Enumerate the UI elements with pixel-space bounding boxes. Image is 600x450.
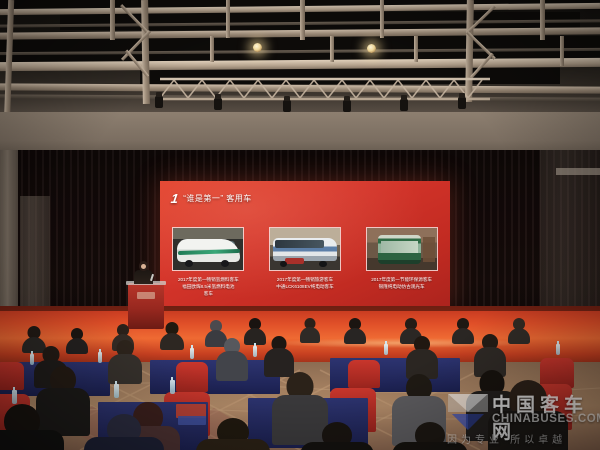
- water-bottle: [384, 344, 388, 355]
- stage-spotlight: [155, 96, 163, 108]
- slide-number-marker: 1: [170, 192, 179, 205]
- slide-title: “谁是第一” 客用车: [183, 193, 252, 204]
- slide-card: 2017年度第一畅销旅游客车 中通LCK6108EV纯电动客车: [269, 227, 341, 297]
- bus-photo-1: [172, 227, 244, 271]
- audience-person: [264, 336, 294, 376]
- ceiling-lamp: [253, 43, 262, 52]
- slide-card: 2017年度第一畅销氢燃料客车 福田欧辉8.5米氢燃料电池 客车: [172, 227, 244, 297]
- stage-spotlight: [400, 99, 408, 111]
- water-bottle: [12, 390, 17, 404]
- water-bottle: [253, 346, 257, 357]
- slide-header: 1 “谁是第一” 客用车: [171, 192, 252, 205]
- chinabuses-diamond-logo: [444, 388, 492, 434]
- audience-person: [300, 422, 374, 450]
- stage-spotlight: [214, 98, 222, 110]
- stage-spotlight: [343, 100, 351, 112]
- audience-person: [344, 318, 366, 343]
- watermark-domain: CHINABUSES.COM: [492, 413, 600, 425]
- ceiling-lamp: [367, 44, 376, 53]
- card-caption: 2017年度第一畅销旅游客车 中通LCK6108EV纯电动客车: [276, 276, 333, 290]
- wall-vent: [556, 168, 600, 175]
- watermark: 中国客车网 CHINABUSES.COM 因为专业 所以卓越: [444, 384, 596, 448]
- stage-front-edge: [0, 306, 600, 311]
- projection-screen: 1 “谁是第一” 客用车 2017年度第一畅销氢燃料客车 福田欧辉8.5米氢燃料…: [160, 181, 450, 311]
- audience-person: [84, 414, 164, 450]
- wall-pillar: [20, 196, 50, 316]
- speaker-face: [141, 264, 146, 269]
- card-caption: 2017年度第一畅销氢燃料客车 福田欧辉8.5米氢燃料电池 客车: [178, 276, 239, 297]
- audience-chair: [348, 360, 380, 388]
- water-bottle: [98, 352, 102, 363]
- watermark-tagline: 因为专业 所以卓越: [447, 431, 566, 446]
- ceiling-truss-structure: [0, 0, 600, 128]
- stage-spotlight: [458, 97, 466, 109]
- card-caption: 2017年度第一节能环保源客车 银隆纯电动仿古观光车: [371, 276, 432, 290]
- audience-person: [300, 318, 320, 342]
- audience-person: [160, 322, 184, 349]
- lighting-truss: [160, 76, 490, 102]
- audience-person: [66, 328, 88, 353]
- audience-chair: [0, 362, 24, 390]
- audience-person: [108, 340, 142, 382]
- slide-card: 2017年度第一节能环保源客车 银隆纯电动仿古观光车: [366, 227, 438, 297]
- wall-pillar: [0, 150, 18, 325]
- water-bottle: [114, 384, 119, 398]
- audience-person: [216, 338, 248, 380]
- slide-card-row: 2017年度第一畅销氢燃料客车 福田欧辉8.5米氢燃料电池 客车 2017年度第…: [160, 227, 450, 297]
- water-bottle: [556, 344, 560, 355]
- water-bottle: [190, 348, 194, 359]
- audience-person: [452, 318, 474, 343]
- audience-person: [508, 318, 530, 343]
- bus-photo-2: [269, 227, 341, 271]
- bus-photo-3: [366, 227, 438, 271]
- audience-person: [406, 336, 438, 378]
- water-bottle: [170, 380, 175, 394]
- audience-person: [196, 418, 270, 450]
- stage-spotlight: [283, 100, 291, 112]
- conference-photo: 1 “谁是第一” 客用车 2017年度第一畅销氢燃料客车 福田欧辉8.5米氢燃料…: [0, 0, 600, 450]
- audience-chair: [176, 362, 208, 392]
- audience-person: [0, 404, 64, 450]
- wall-pillar: [540, 150, 600, 330]
